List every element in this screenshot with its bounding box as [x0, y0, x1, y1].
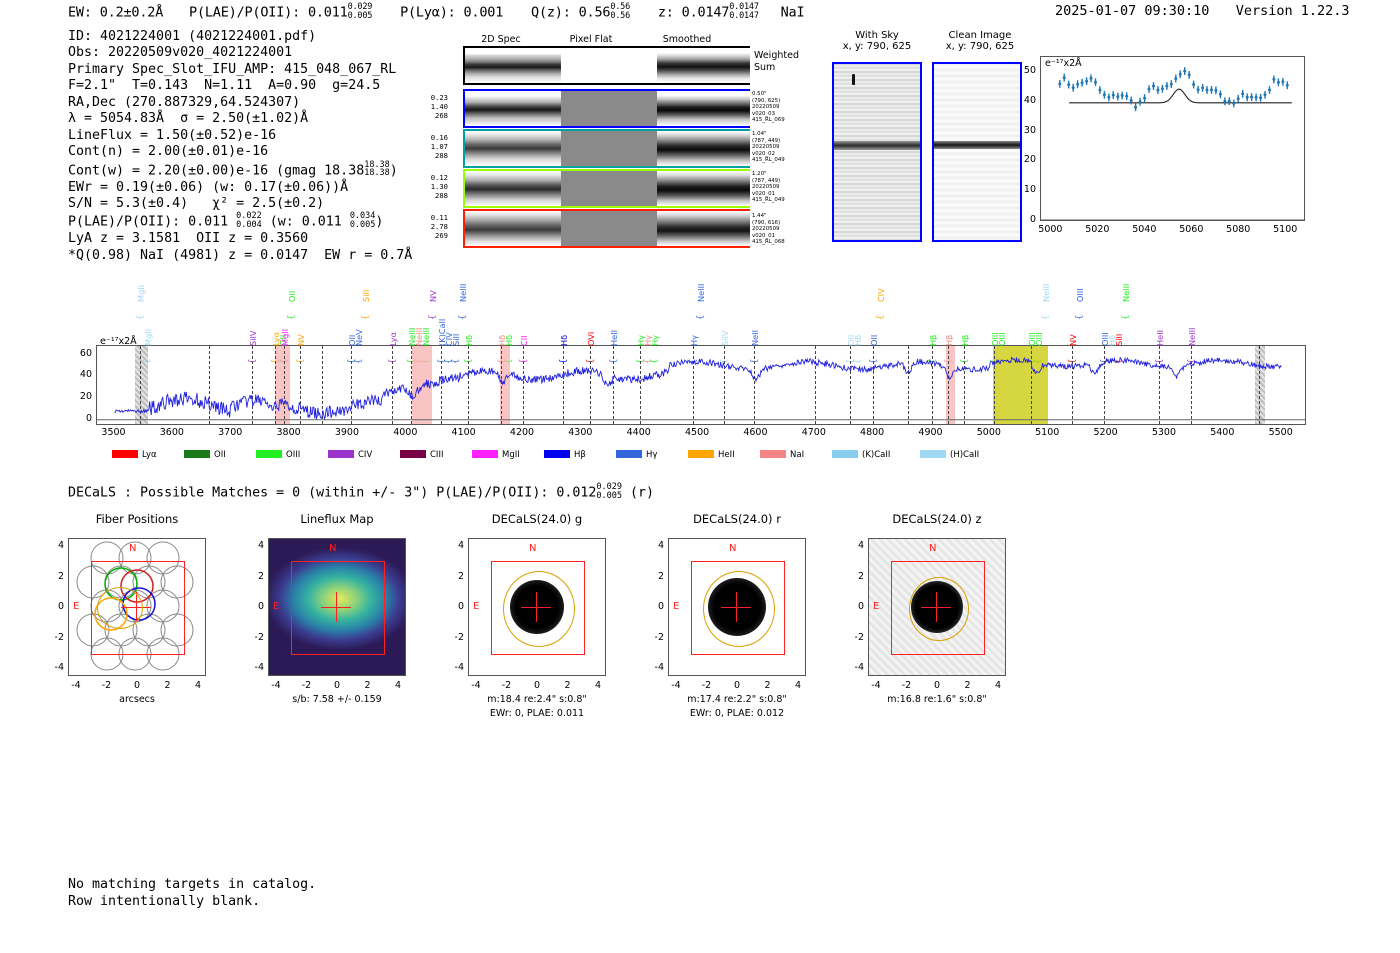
- spectrum-line-label: OII: [287, 291, 297, 302]
- spectrum-line-label: NeIII: [414, 328, 424, 346]
- cutout-ytick: -2: [644, 632, 664, 643]
- info-plae: P(LAE)/P(OII): 0.011 0.0220.004 (w: 0.01…: [68, 212, 412, 231]
- cutout-xtick: 0: [725, 680, 749, 691]
- line-plot-xtick: 5100: [1269, 224, 1301, 235]
- spectrum-line-label: NV: [428, 290, 438, 302]
- spec2d-col-title-pixelflat: Pixel Flat: [552, 34, 630, 45]
- cutout-xtick: -4: [664, 680, 688, 691]
- spectrum-xtick: 4100: [444, 427, 484, 438]
- spectrum-xtick: 4600: [735, 427, 775, 438]
- cutout-ytick: -4: [444, 662, 464, 673]
- legend-swatch: [184, 450, 210, 458]
- cutout-panel: Lineflux MapNE-4-4-2-2002244s/b: 7.58 +/…: [268, 512, 406, 526]
- legend-label: (K)CaII: [862, 450, 890, 460]
- spectrum-line-label: SiII: [361, 290, 371, 302]
- spec2d-weighted-sum-row: [463, 46, 750, 85]
- info-id: ID: 4021224001 (4021224001.pdf): [68, 29, 412, 45]
- spec2d-row-tag: 0.11 2.78 269: [408, 213, 448, 241]
- spectrum-xtick: 4500: [677, 427, 717, 438]
- legend-item: Hβ: [544, 450, 586, 460]
- header-plae-errors: 0.0290.005: [348, 3, 373, 20]
- spec2d-row-tag: 0.12 1.30 288: [408, 173, 448, 201]
- compass-north-label: N: [129, 543, 136, 554]
- cutout-xtick: -2: [495, 680, 519, 691]
- cutout-ytick: 4: [444, 540, 464, 551]
- line-plot-ytick: 10: [1018, 184, 1036, 195]
- cutout-ytick: 2: [644, 571, 664, 582]
- cutout-ytick: -2: [844, 632, 864, 643]
- cutout-image[interactable]: NE: [868, 538, 1006, 676]
- spectrum-line-label: NeIII: [458, 284, 468, 302]
- legend-label: (H)CaII: [950, 450, 979, 460]
- cutout-xtick: 4: [186, 680, 210, 691]
- spec2d-row-caption: 1.44" (790, 616) 20220509 v020_01 415_RL…: [752, 213, 785, 246]
- line-plot-ytick: 20: [1018, 154, 1036, 165]
- spectrum-xtick: 3600: [152, 427, 192, 438]
- cutout-caption-1: m:17.4 re:2.2" s:0.8": [648, 694, 826, 705]
- legend-swatch: [472, 450, 498, 458]
- spectrum-line-label: MgII: [136, 285, 146, 302]
- spectrum-line-label: Lyα: [388, 332, 398, 346]
- footer-line2: Row intentionally blank.: [68, 894, 260, 909]
- legend-swatch: [256, 450, 282, 458]
- compass-north-label: N: [329, 543, 336, 554]
- cutout-title: DECaLS(24.0) g: [468, 512, 606, 526]
- spectrum-ytick: 60: [72, 348, 92, 359]
- cutout-caption-2: EWr: 0, PLAE: 0.011: [448, 708, 626, 719]
- compass-east-label: E: [873, 601, 879, 612]
- cutout-xtick: -2: [95, 680, 119, 691]
- version-label: Version 1.22.3: [1236, 3, 1350, 19]
- spectrum-line-label: OIII: [1100, 332, 1110, 346]
- legend-swatch: [112, 450, 138, 458]
- cutout-ytick: -4: [644, 662, 664, 673]
- legend-swatch: [920, 450, 946, 458]
- info-sn-chi2: S/N = 5.3(±0.4) χ² = 2.5(±0.2): [68, 196, 412, 212]
- spec2d-col-title-2dspec: 2D Spec: [462, 34, 540, 45]
- spectrum-ytick: 20: [72, 391, 92, 402]
- cutout-ytick: 0: [244, 601, 264, 612]
- cutout-xtick: 0: [325, 680, 349, 691]
- spectrum-line-label: CIV: [444, 332, 454, 346]
- cutout-xtick: 2: [756, 680, 780, 691]
- cutout-aperture-ellipse: [909, 577, 969, 641]
- cutout-caption-1: arcsecs: [48, 694, 226, 705]
- legend-swatch: [688, 450, 714, 458]
- cutout-xtick: 2: [956, 680, 980, 691]
- compass-east-label: E: [273, 601, 279, 612]
- spectrum-line-label: NeIII: [421, 328, 431, 346]
- cutout-xtick: 2: [156, 680, 180, 691]
- spectrum-line-label: CIV: [876, 288, 886, 302]
- spectrum-line-label: HeII: [609, 330, 619, 346]
- spectrum-line-brace: {: [696, 315, 706, 320]
- decals-header: DECaLS : Possible Matches = 0 (within +/…: [68, 483, 654, 501]
- info-q-line: *Q(0.98) NaI (4981) z = 0.0147 EW r = 0.…: [68, 248, 412, 264]
- header-z-label: z:: [658, 5, 674, 21]
- cutout-ytick: -2: [244, 632, 264, 643]
- legend-swatch: [328, 450, 354, 458]
- spectrum-line-label: SiIV: [248, 331, 258, 347]
- spectrum-xtick: 4800: [852, 427, 892, 438]
- spectrum-line-label: Lyα: [271, 332, 281, 346]
- spectrum-xtick: 5000: [969, 427, 1009, 438]
- compass-north-label: N: [929, 543, 936, 554]
- spectrum-line-label: NeIII: [1187, 328, 1197, 346]
- spectrum-line-brace: {: [287, 315, 297, 320]
- spectrum-line-label: NeV: [354, 329, 364, 346]
- spectrum-plot: [96, 345, 1306, 425]
- line-plot-xtick: 5080: [1222, 224, 1254, 235]
- line-plot-xtick: 5040: [1128, 224, 1160, 235]
- spectrum-line-brace: {: [876, 315, 886, 320]
- clean-image-panel: Clean Image x, y: 790, 625: [932, 30, 1028, 52]
- header-z-errors: 0.01470.0147: [729, 3, 759, 20]
- spectrum-ytick: 0: [72, 413, 92, 424]
- spectrum-line-brace: {: [1075, 315, 1085, 320]
- legend-label: HeII: [718, 450, 735, 460]
- cutout-panel: DECaLS(24.0) zNE-4-4-2-2002244m:16.8 re:…: [868, 512, 1006, 526]
- cutout-ytick: -4: [44, 662, 64, 673]
- cutout-ytick: 4: [44, 540, 64, 551]
- line-plot-xtick: 5060: [1175, 224, 1207, 235]
- legend-swatch: [616, 450, 642, 458]
- line-plot-ytick: 40: [1018, 95, 1036, 106]
- legend-swatch: [400, 450, 426, 458]
- cutout-ytick: -4: [844, 662, 864, 673]
- cutout-panel: DECaLS(24.0) rNE-4-4-2-2002244m:17.4 re:…: [668, 512, 806, 526]
- legend-item: OIII: [256, 450, 300, 460]
- legend-swatch: [544, 450, 570, 458]
- cutout-xtick: -4: [264, 680, 288, 691]
- spec2d-row: [463, 169, 750, 208]
- with-sky-title: With Sky: [832, 30, 922, 41]
- spectrum-line-label: NeII: [750, 330, 760, 346]
- compass-north-label: N: [729, 543, 736, 554]
- line-zoom-plot: e⁻¹⁷x2Å: [1040, 56, 1305, 221]
- spectrum-xtick: 5300: [1144, 427, 1184, 438]
- cutout-aperture-ellipse: [503, 571, 575, 647]
- cutout-xtick: -2: [295, 680, 319, 691]
- cutout-xtick: -4: [64, 680, 88, 691]
- header-summary: EW: 0.2±0.2Å P(LAE)/P(OII): 0.0110.0290.…: [68, 3, 804, 21]
- spec2d-row: [463, 89, 750, 128]
- header-plya-label: P(Lyα):: [400, 5, 456, 21]
- cutout-image[interactable]: NE: [68, 538, 206, 676]
- cutout-xtick: 0: [125, 680, 149, 691]
- spectrum-xtick: 3800: [269, 427, 309, 438]
- legend-item: OII: [184, 450, 226, 460]
- cutout-ytick: 2: [244, 571, 264, 582]
- spec2d-row: [463, 209, 750, 248]
- header-qz-errors: 0.560.56: [610, 3, 630, 20]
- legend-item: (H)CaII: [920, 450, 979, 460]
- cutout-aperture-ellipse: [703, 571, 775, 647]
- spectrum-legend: LyαOIIOIIICIVCIIIMgIIHβHγHeIINaI(K)CaII(…: [96, 450, 1306, 464]
- cutout-caption-1: s/b: 7.58 +/- 0.159: [248, 694, 426, 705]
- legend-item: Lyα: [112, 450, 157, 460]
- legend-swatch: [760, 450, 786, 458]
- spectrum-xtick: 5500: [1261, 427, 1301, 438]
- cutout-ytick: 4: [644, 540, 664, 551]
- header-plae-label: P(LAE)/P(OII):: [189, 5, 300, 21]
- spec2d-col-title-smoothed: Smoothed: [642, 34, 732, 45]
- spectrum-xtick: 3700: [210, 427, 250, 438]
- cutout-xtick: 4: [986, 680, 1010, 691]
- cutout-ytick: -2: [444, 632, 464, 643]
- cutout-caption-1: m:18.4 re:2.4" s:0.8": [448, 694, 626, 705]
- info-z-lines: LyA z = 3.1581 OII z = 0.3560: [68, 231, 412, 247]
- spectrum-xtick: 3500: [94, 427, 134, 438]
- legend-item: CIV: [328, 450, 372, 460]
- footer-line1: No matching targets in catalog.: [68, 877, 316, 892]
- cutout-ytick: 2: [44, 571, 64, 582]
- spectrum-line-label: OIII: [1075, 288, 1085, 302]
- header-qz-value: 0.56: [579, 5, 611, 21]
- spectrum-xtick: 3900: [327, 427, 367, 438]
- line-plot-ytick: 30: [1018, 125, 1036, 136]
- info-radec: RA,Dec (270.887329,64.524307): [68, 95, 412, 111]
- header-qz-label: Q(z):: [531, 5, 571, 21]
- info-seeing: F=2.1" T=0.143 N=1.11 A=0.90 g=24.5: [68, 78, 412, 94]
- spec2d-weighted-sum-label: Weighted Sum: [754, 50, 799, 74]
- legend-item: HeII: [688, 450, 735, 460]
- spectrum-xtick: 4900: [911, 427, 951, 438]
- clean-image: [932, 62, 1022, 242]
- spec2d-row: [463, 129, 750, 168]
- cutout-xtick: -2: [895, 680, 919, 691]
- cutout-xtick: 2: [356, 680, 380, 691]
- info-primary-spec-slot: Primary Spec_Slot_IFU_AMP: 415_048_067_R…: [68, 62, 412, 78]
- cutout-title: DECaLS(24.0) r: [668, 512, 806, 526]
- compass-east-label: E: [673, 601, 679, 612]
- spectrum-line-label: (K)CaII: [437, 319, 447, 346]
- with-sky-subtitle: x, y: 790, 625: [832, 41, 922, 52]
- line-plot-xtick: 5000: [1034, 224, 1066, 235]
- info-ewr: EWr = 0.19(±0.06) (w: 0.17(±0.06))Å: [68, 180, 412, 196]
- cutout-ytick: 0: [44, 601, 64, 612]
- spectrum-line-label: OVI: [586, 332, 596, 346]
- spectrum-line-label: OIII: [990, 332, 1000, 346]
- legend-label: MgII: [502, 450, 520, 460]
- cutout-ytick: 4: [844, 540, 864, 551]
- spectrum-ytick: 40: [72, 369, 92, 380]
- cutout-ytick: 0: [644, 601, 664, 612]
- legend-item: MgII: [472, 450, 520, 460]
- cutout-panel: Fiber PositionsNE-4-4-2-2002244arcsecs: [68, 512, 206, 526]
- legend-swatch: [832, 450, 858, 458]
- cutout-xtick: -4: [464, 680, 488, 691]
- spectrum-line-label: MgII: [280, 329, 290, 346]
- cutout-xtick: -4: [864, 680, 888, 691]
- spec2d-row-tag: 0.16 1.07 288: [408, 133, 448, 161]
- clean-image-subtitle: x, y: 790, 625: [932, 41, 1028, 52]
- cutout-caption-2: EWr: 0, PLAE: 0.012: [648, 708, 826, 719]
- cutout-xtick: 4: [386, 680, 410, 691]
- legend-label: OIII: [286, 450, 300, 460]
- object-info-block: ID: 4021224001 (4021224001.pdf) Obs: 202…: [68, 29, 412, 264]
- cutout-xtick: 0: [525, 680, 549, 691]
- cutout-ytick: 2: [444, 571, 464, 582]
- spectrum-line-label: NeIII: [696, 284, 706, 302]
- spectrum-line-brace: {: [458, 315, 468, 320]
- spectrum-line-label: NeIII: [1041, 284, 1051, 302]
- legend-label: Hβ: [574, 450, 586, 460]
- spectrum-xtick: 5200: [1086, 427, 1126, 438]
- spectrum-line-brace: {: [136, 315, 146, 320]
- info-lambda: λ = 5054.83Å σ = 2.50(±1.02)Å: [68, 111, 412, 127]
- cutout-ytick: -2: [44, 632, 64, 643]
- with-sky-panel: With Sky x, y: 790, 625: [832, 30, 922, 52]
- spectrum-line-brace: {: [1041, 315, 1051, 320]
- cutout-xtick: 2: [556, 680, 580, 691]
- cutout-title: DECaLS(24.0) z: [868, 512, 1006, 526]
- info-cont-w: Cont(w) = 2.20(±0.00)e-16 (gmag 18.3818.…: [68, 161, 412, 180]
- legend-label: CIV: [358, 450, 372, 460]
- cutout-crosshair-v: [336, 592, 337, 622]
- footer-note: No matching targets in catalog. Row inte…: [68, 876, 316, 910]
- legend-label: Hγ: [646, 450, 657, 460]
- cutout-image[interactable]: NE: [468, 538, 606, 676]
- spectrum-line-brace: {: [428, 315, 438, 320]
- cutout-title: Fiber Positions: [68, 512, 206, 526]
- spectrum-units: e⁻¹⁷x2Å: [100, 336, 137, 347]
- cutout-ytick: 0: [844, 601, 864, 612]
- cutout-xtick: 0: [925, 680, 949, 691]
- legend-item: NaI: [760, 450, 804, 460]
- spectrum-xtick: 5400: [1202, 427, 1242, 438]
- header-z-species: NaI: [781, 5, 805, 21]
- spectrum-line-label: OIII: [997, 332, 1007, 346]
- spectrum-xtick: 4200: [502, 427, 542, 438]
- legend-label: OII: [214, 450, 226, 460]
- cutout-ytick: 0: [444, 601, 464, 612]
- line-plot-ytick: 50: [1018, 65, 1036, 76]
- info-cont-n: Cont(n) = 2.00(±0.01)e-16: [68, 144, 412, 160]
- line-plot-xtick: 5020: [1081, 224, 1113, 235]
- info-obs: Obs: 20220509v020_4021224001: [68, 45, 412, 61]
- timestamp: 2025-01-07 09:30:10: [1055, 3, 1209, 19]
- spectrum-xtick: 4700: [794, 427, 834, 438]
- spectrum-line-label: NeIII: [407, 328, 417, 346]
- legend-item: Hγ: [616, 450, 657, 460]
- cutout-ytick: 2: [844, 571, 864, 582]
- cutout-aperture-ellipse: [97, 587, 143, 629]
- legend-label: Lyα: [142, 450, 157, 460]
- spec2d-row-tag: 0.23 1.40 268: [408, 93, 448, 121]
- spectrum-line-label: MgII: [143, 329, 153, 346]
- cutout-xtick: 4: [586, 680, 610, 691]
- cutout-image[interactable]: NE: [668, 538, 806, 676]
- with-sky-image: [832, 62, 922, 242]
- cutout-image[interactable]: NE: [268, 538, 406, 676]
- spectrum-xtick: 4300: [560, 427, 600, 438]
- spectrum-line-brace: {: [361, 315, 371, 320]
- clean-image-title: Clean Image: [932, 30, 1028, 41]
- spec2d-row-caption: 1.20" (787, 449) 20220509 v020_01 415_RL…: [752, 171, 785, 204]
- cutout-ytick: -4: [244, 662, 264, 673]
- line-plot-ytick: 0: [1018, 214, 1036, 225]
- cutout-red-box: [291, 561, 385, 655]
- spectrum-line-label: NeIII: [1121, 284, 1131, 302]
- cutout-title: Lineflux Map: [268, 512, 406, 526]
- line-plot-svg: [1040, 56, 1305, 221]
- header-ew: EW: 0.2±0.2Å: [68, 5, 163, 21]
- header-z-value: 0.0147: [682, 5, 730, 21]
- header-timestamp-version: 2025-01-07 09:30:10 Version 1.22.3: [1055, 3, 1350, 19]
- cutout-ytick: 4: [244, 540, 264, 551]
- spectrum-line-label: SiIV: [720, 331, 730, 347]
- spectrum-line-brace: {: [1121, 315, 1131, 320]
- spectrum-xtick: 4400: [619, 427, 659, 438]
- cutout-panel: DECaLS(24.0) gNE-4-4-2-2002244m:18.4 re:…: [468, 512, 606, 526]
- spectrum-xtick: 4000: [385, 427, 425, 438]
- spectrum-xtick: 5100: [1027, 427, 1067, 438]
- spec2d-row-caption: 1.04" (787, 449) 20220509 v020_02 415_RL…: [752, 131, 785, 164]
- spec2d-row-caption: 0.50" (790, 625) 20220509 v020_03 415_RL…: [752, 91, 785, 124]
- cutout-caption-1: m:16.8 re:1.6" s:0.8": [848, 694, 1026, 705]
- compass-north-label: N: [529, 543, 536, 554]
- spectrum-line-label: HeII: [1155, 330, 1165, 346]
- legend-item: (K)CaII: [832, 450, 890, 460]
- spectrum-line-label: OIII: [1027, 332, 1037, 346]
- cutout-xtick: -2: [695, 680, 719, 691]
- cutout-xtick: 4: [786, 680, 810, 691]
- header-plya-value: 0.001: [464, 5, 504, 21]
- legend-label: NaI: [790, 450, 804, 460]
- compass-east-label: E: [473, 601, 479, 612]
- compass-east-label: E: [73, 601, 79, 612]
- legend-label: CIII: [430, 450, 443, 460]
- spectrum-line-label: OIII: [1034, 332, 1044, 346]
- header-plae-value: 0.011: [308, 5, 348, 21]
- info-lineflux: LineFlux = 1.50(±0.52)e-16: [68, 128, 412, 144]
- legend-item: CIII: [400, 450, 443, 460]
- cutout-row: Fiber PositionsNE-4-4-2-2002244arcsecsLi…: [60, 512, 1020, 727]
